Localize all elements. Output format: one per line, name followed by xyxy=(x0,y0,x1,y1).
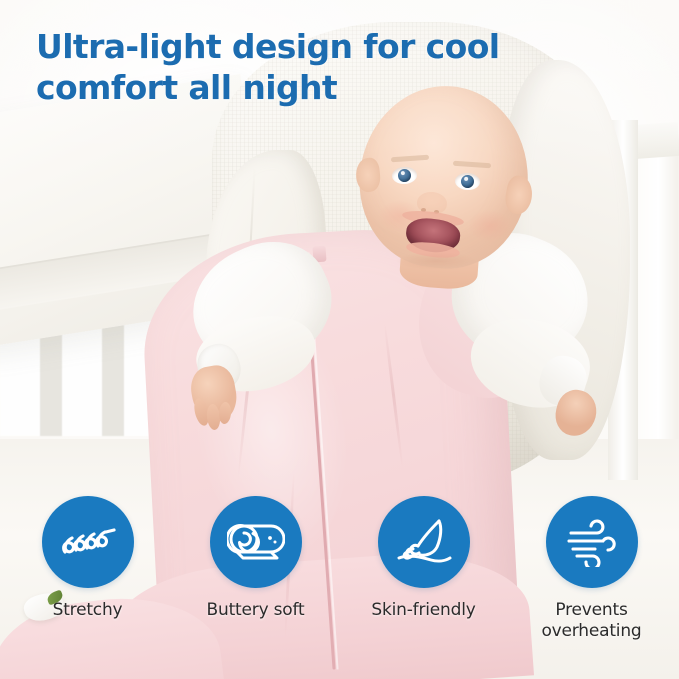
feature-prevents-overheating: Prevents overheating xyxy=(536,496,648,641)
feature-skin-friendly: Skin-friendly xyxy=(368,496,480,621)
feature-stretchy: Stretchy xyxy=(32,496,144,621)
page-title: Ultra-light design for cool comfort all … xyxy=(36,27,596,109)
product-feature-image: Ultra-light design for cool comfort all … xyxy=(0,0,679,679)
feature-badge-circle xyxy=(378,496,470,588)
feature-badge-row: Stretchy Buttery soft xyxy=(0,496,679,641)
feature-badge-circle xyxy=(42,496,134,588)
baby-chin-shadow xyxy=(396,252,476,270)
airflow-wind-icon xyxy=(563,517,621,567)
hand-touching-fabric-icon xyxy=(393,516,455,568)
headline-line-1: Ultra-light design for cool xyxy=(36,27,500,66)
fabric-roll-icon xyxy=(227,518,285,566)
feature-label: Buttery soft xyxy=(207,600,305,621)
headline-line-2: comfort all night xyxy=(36,68,596,109)
baby-iris-right xyxy=(461,175,475,189)
spring-coil-icon xyxy=(58,519,118,565)
feature-label: Skin-friendly xyxy=(371,600,475,621)
baby-cheek-right xyxy=(468,210,512,242)
feature-badge-circle xyxy=(210,496,302,588)
feature-badge-circle xyxy=(546,496,638,588)
baby-iris-left xyxy=(398,169,412,183)
feature-label: Stretchy xyxy=(53,600,123,621)
feature-label: Prevents overheating xyxy=(541,600,641,641)
feature-buttery-soft: Buttery soft xyxy=(200,496,312,621)
